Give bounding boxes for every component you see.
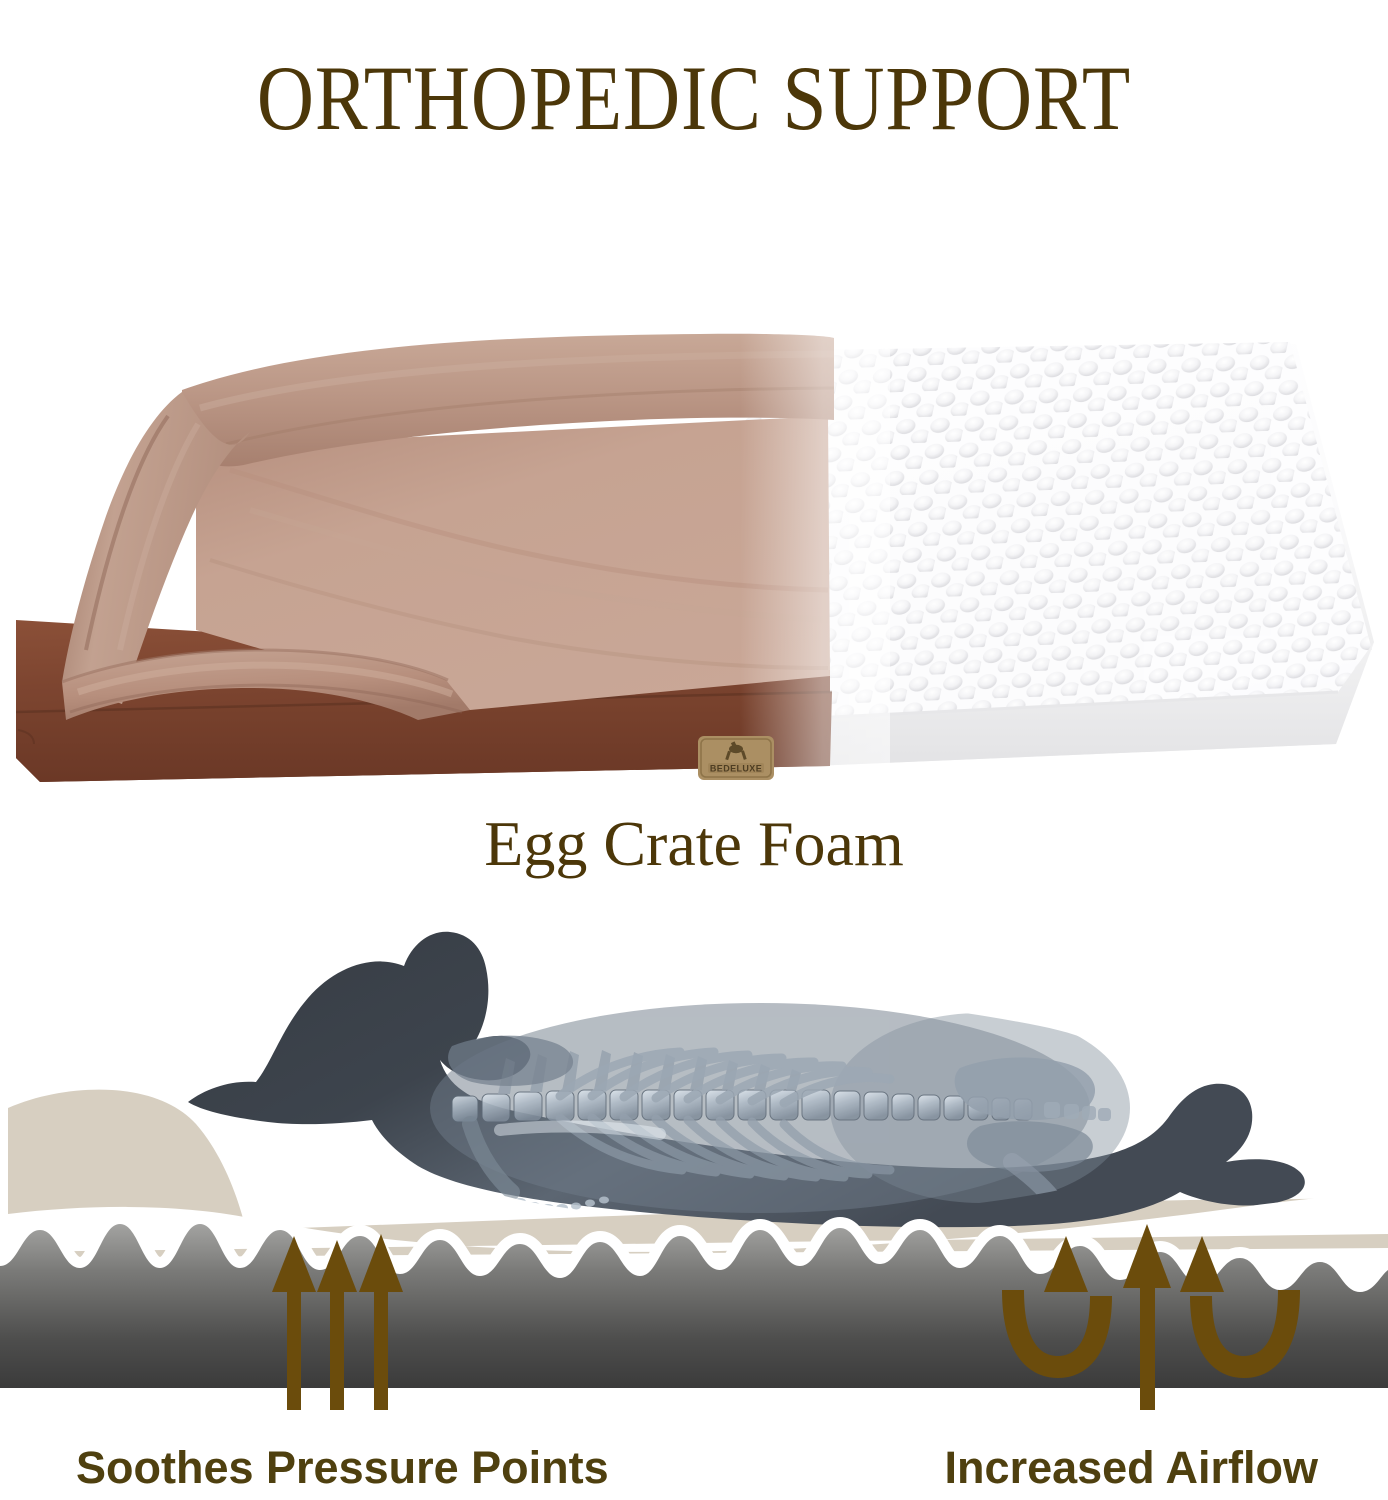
product-subtitle: Egg Crate Foam: [0, 812, 1388, 876]
product-illustration: BEDELUXE: [0, 320, 1388, 800]
product-image: BEDELUXE: [0, 320, 1388, 800]
caption-soothes-pressure-points: Soothes Pressure Points: [76, 1443, 609, 1493]
caption-increased-airflow: Increased Airflow: [945, 1443, 1318, 1493]
cross-section-diagram: [0, 918, 1388, 1428]
brand-tag: BEDELUXE: [698, 736, 774, 780]
cross-section-illustration: [0, 918, 1388, 1428]
brand-tag-text: BEDELUXE: [710, 764, 762, 774]
pressure-arrows-group: [272, 1234, 403, 1410]
photo-seam-fade: [740, 330, 890, 790]
page-title: ORTHOPEDIC SUPPORT: [97, 52, 1291, 144]
